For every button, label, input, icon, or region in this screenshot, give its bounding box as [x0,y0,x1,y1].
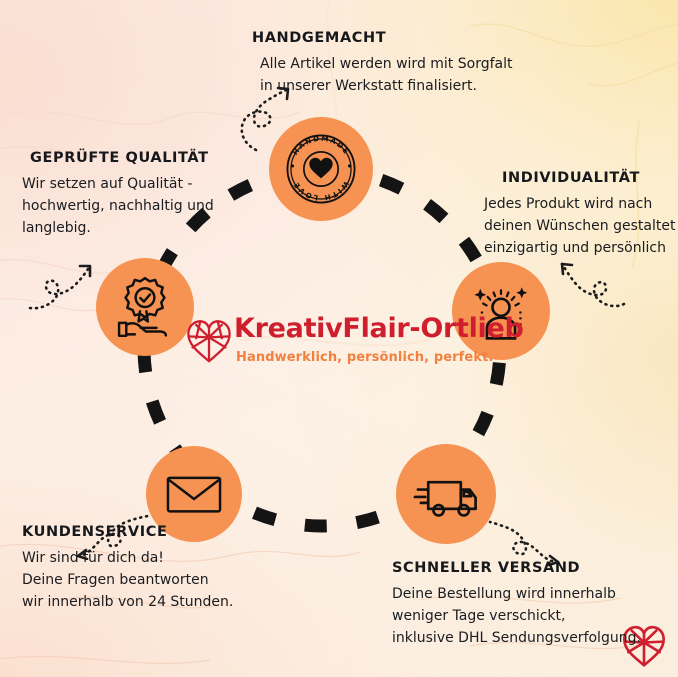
feature-title: HANDGEMACHT [252,30,552,46]
feature-text-handgemacht: HANDGEMACHT Alle Artikel werden wird mit… [252,30,552,97]
feature-circle-handgemacht[interactable]: HANDMADE WITH LOVE [269,117,373,221]
feature-line: deinen Wünschen gestaltet - [484,215,678,237]
feature-circle-gepruefte-qualitaet[interactable] [96,258,194,356]
feature-line: Wir sind für dich da! [22,547,302,569]
feature-title: KUNDENSERVICE [22,524,302,540]
brand-wordmark: KreativFlair-Ortlieb [234,313,524,344]
svg-text:HANDMADE: HANDMADE [290,134,351,157]
brand-logo: KreativFlair-Ortlieb Handwerklich, persö… [186,313,456,375]
geometric-heart-icon [186,319,232,363]
feature-line: Deine Fragen beantworten [22,569,302,591]
feature-line: Alle Artikel werden wird mit Sorgfalt [252,53,552,75]
delivery-truck-icon [409,457,483,531]
feature-line: Wir setzen auf Qualität - [22,173,282,195]
feature-line: weniger Tage verschickt, [392,605,678,627]
feature-line: inklusive DHL Sendungsverfolgung. [392,627,678,649]
feature-title: INDIVIDUALITÄT [484,170,678,186]
feature-line: wir innerhalb von 24 Stunden. [22,591,302,613]
feature-title: SCHNELLER VERSAND [392,560,678,576]
feature-circle-schneller-versand[interactable] [396,444,496,544]
handmade-with-love-stamp-icon: HANDMADE WITH LOVE [282,130,360,208]
infographic-canvas: HANDMADE WITH LOVE [0,0,678,677]
envelope-icon [163,463,225,525]
feature-text-gepruefte-qualitaet: GEPRÜFTE QUALITÄT Wir setzen auf Qualitä… [22,150,282,239]
feature-text-kundenservice: KUNDENSERVICE Wir sind für dich da! Dein… [22,524,302,613]
feature-title: GEPRÜFTE QUALITÄT [22,150,282,166]
feature-line: Jedes Produkt wird nach [484,193,678,215]
feature-circle-individualitaet[interactable] [452,262,550,360]
curly-dotted-arrow-icon [26,246,98,312]
brand-tagline: Handwerklich, persönlich, perfekt. [236,350,493,365]
hand-holding-quality-badge-icon [109,271,181,343]
feature-text-schneller-versand: SCHNELLER VERSAND Deine Bestellung wird … [392,560,678,649]
feature-line: hochwertig, nachhaltig und [22,195,282,217]
feature-line: Deine Bestellung wird innerhalb [392,583,678,605]
feature-line: einzigartig und persönlich [484,237,678,259]
feature-line: langlebig. [22,217,282,239]
feature-line: in unserer Werkstatt finalisiert. [252,75,552,97]
feature-text-individualitaet: INDIVIDUALITÄT Jedes Produkt wird nach d… [484,170,678,259]
